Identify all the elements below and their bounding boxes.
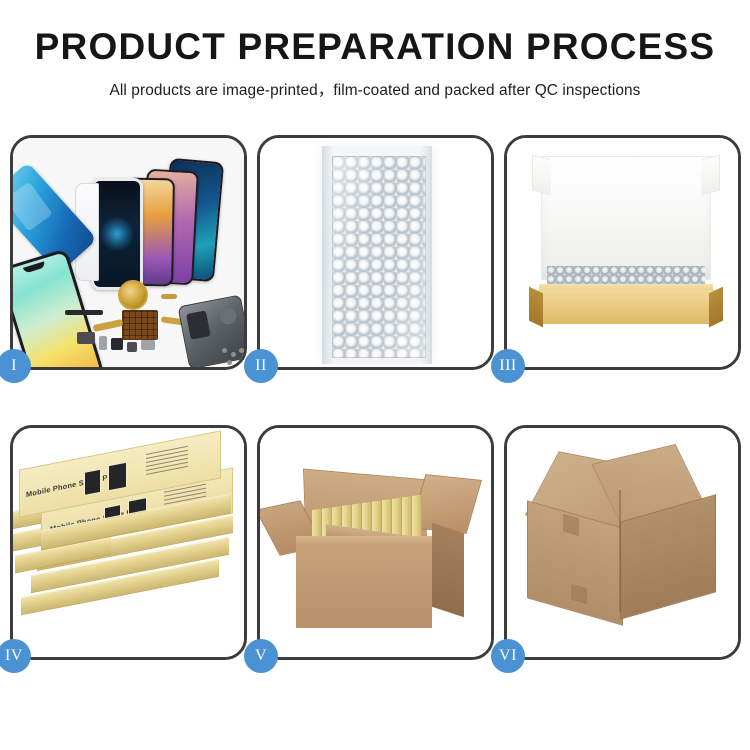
screws-group-icon: [222, 348, 244, 367]
box-lcd-thumb-2: [108, 462, 127, 492]
phones-and-parts-scene: [13, 138, 244, 367]
step-image-6: [507, 428, 738, 657]
part-logic-board-icon: [122, 310, 158, 340]
mailer-lid: [541, 156, 711, 280]
part-vibrator-icon: [141, 340, 155, 350]
page-title: PRODUCT PREPARATION PROCESS: [0, 28, 750, 67]
step-image-1: [13, 138, 244, 367]
process-steps-grid: I Mobile phones, LCD screens and spare p…: [10, 135, 740, 660]
box-lcd-thumb-1: [84, 469, 101, 496]
wrap-edge-right: [420, 146, 432, 364]
step-panel-1[interactable]: I Mobile phones, LCD screens and spare p…: [10, 135, 247, 370]
step-image-2: [260, 138, 491, 367]
page-header: PRODUCT PREPARATION PROCESS All products…: [0, 0, 750, 100]
step-image-3: [507, 138, 738, 367]
carton-front-face: [296, 544, 432, 628]
step-panel-3[interactable]: III Wrapped product placed in mailer box: [504, 135, 741, 370]
sealed-carton-scene: [507, 428, 738, 657]
step-badge-6: VI: [491, 639, 525, 673]
bubble-wrap-scene: [260, 138, 491, 367]
step-badge-4: IV: [0, 639, 31, 673]
page-subtitle: All products are image-printed，film-coat…: [0, 78, 750, 100]
step-badge-1: I: [0, 349, 31, 383]
step-badge-5: V: [244, 639, 278, 673]
part-strip-icon: [65, 310, 103, 315]
open-carton-scene: [260, 428, 491, 657]
step-badge-3: III: [491, 349, 525, 383]
mailer-front-panel: [537, 290, 715, 324]
part-flex-cable-icon: [93, 319, 124, 332]
box-spec-lines-1: [146, 446, 188, 478]
part-connector-icon: [161, 294, 177, 299]
part-button-icon: [127, 342, 137, 352]
wrap-edge-left: [322, 146, 334, 364]
step-panel-4[interactable]: Mobile Phone Spare Parts Mobile Phone Sp…: [10, 425, 247, 660]
step-panel-2[interactable]: II Product wrapped in bubble wrap: [257, 135, 494, 370]
step-panel-5[interactable]: V Retail boxes loaded into shipping cart…: [257, 425, 494, 660]
part-sim-tray-icon: [99, 336, 107, 350]
product-preparation-infographic: { "header": { "title": "PRODUCT PREPARAT…: [0, 0, 750, 750]
bubble-grid-icon: [332, 156, 426, 358]
step-image-4: Mobile Phone Spare Parts Mobile Phone Sp…: [13, 428, 244, 657]
step-badge-2: II: [244, 349, 278, 383]
carton-side-right: [432, 523, 464, 617]
stacked-boxes-scene: Mobile Phone Spare Parts Mobile Phone Sp…: [13, 428, 244, 657]
part-camera-icon: [77, 332, 95, 344]
step-image-5: [260, 428, 491, 657]
part-coil-icon: [118, 280, 148, 310]
spare-parts-cluster: [65, 288, 244, 367]
open-mailer-box-scene: [507, 138, 738, 367]
part-speaker-icon: [111, 338, 123, 350]
step-panel-6[interactable]: VI Sealed shipping carton ready to ship: [504, 425, 741, 660]
carton-vertical-seam: [619, 490, 621, 612]
